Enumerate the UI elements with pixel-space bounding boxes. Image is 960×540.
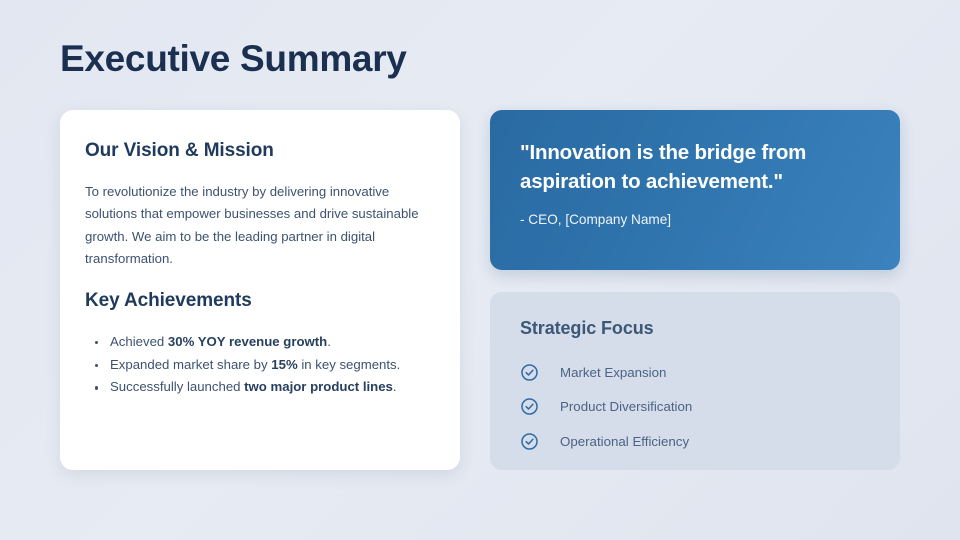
list-item: Expanded market share by 15% in key segm… <box>85 354 435 377</box>
list-item: Achieved 30% YOY revenue growth. <box>85 331 435 354</box>
page-title: Executive Summary <box>60 36 407 82</box>
key-achievements-list: Achieved 30% YOY revenue growth. Expande… <box>85 331 435 399</box>
list-item: Product Diversification <box>520 390 870 425</box>
ceo-quote-card: "Innovation is the bridge from aspiratio… <box>490 110 900 270</box>
achievement-text-prefix: Achieved <box>110 334 168 349</box>
achievement-text-bold: 15% <box>271 357 297 372</box>
strategic-focus-item-label: Market Expansion <box>560 363 666 382</box>
check-circle-icon <box>520 363 539 382</box>
achievement-text-suffix: . <box>393 379 397 394</box>
achievement-text-prefix: Successfully launched <box>110 379 244 394</box>
check-circle-icon <box>520 397 539 416</box>
strategic-focus-list: Market Expansion Product Diversification <box>520 355 870 459</box>
strategic-focus-card: Strategic Focus Market Expansion <box>490 292 900 470</box>
strategic-focus-heading: Strategic Focus <box>520 316 870 341</box>
list-item: Operational Efficiency <box>520 424 870 459</box>
quote-attribution: - CEO, [Company Name] <box>520 210 870 230</box>
achievement-text-bold: 30% YOY revenue growth <box>168 334 327 349</box>
vision-mission-card: Our Vision & Mission To revolutionize th… <box>60 110 460 470</box>
list-item: Market Expansion <box>520 355 870 390</box>
quote-text: "Innovation is the bridge from aspiratio… <box>520 138 870 196</box>
slide-root: Executive Summary Our Vision & Mission T… <box>0 0 960 540</box>
right-column: "Innovation is the bridge from aspiratio… <box>490 110 900 470</box>
vision-mission-heading: Our Vision & Mission <box>85 138 435 164</box>
achievement-text-prefix: Expanded market share by <box>110 357 271 372</box>
achievement-text-bold: two major product lines <box>244 379 393 394</box>
key-achievements-heading: Key Achievements <box>85 288 435 314</box>
left-column: Our Vision & Mission To revolutionize th… <box>60 110 460 470</box>
achievement-text-suffix: in key segments. <box>298 357 401 372</box>
strategic-focus-item-label: Operational Efficiency <box>560 432 689 451</box>
strategic-focus-item-label: Product Diversification <box>560 397 692 416</box>
check-circle-icon <box>520 432 539 451</box>
achievement-text-suffix: . <box>327 334 331 349</box>
list-item: Successfully launched two major product … <box>85 376 435 399</box>
vision-mission-body: To revolutionize the industry by deliver… <box>85 181 433 271</box>
